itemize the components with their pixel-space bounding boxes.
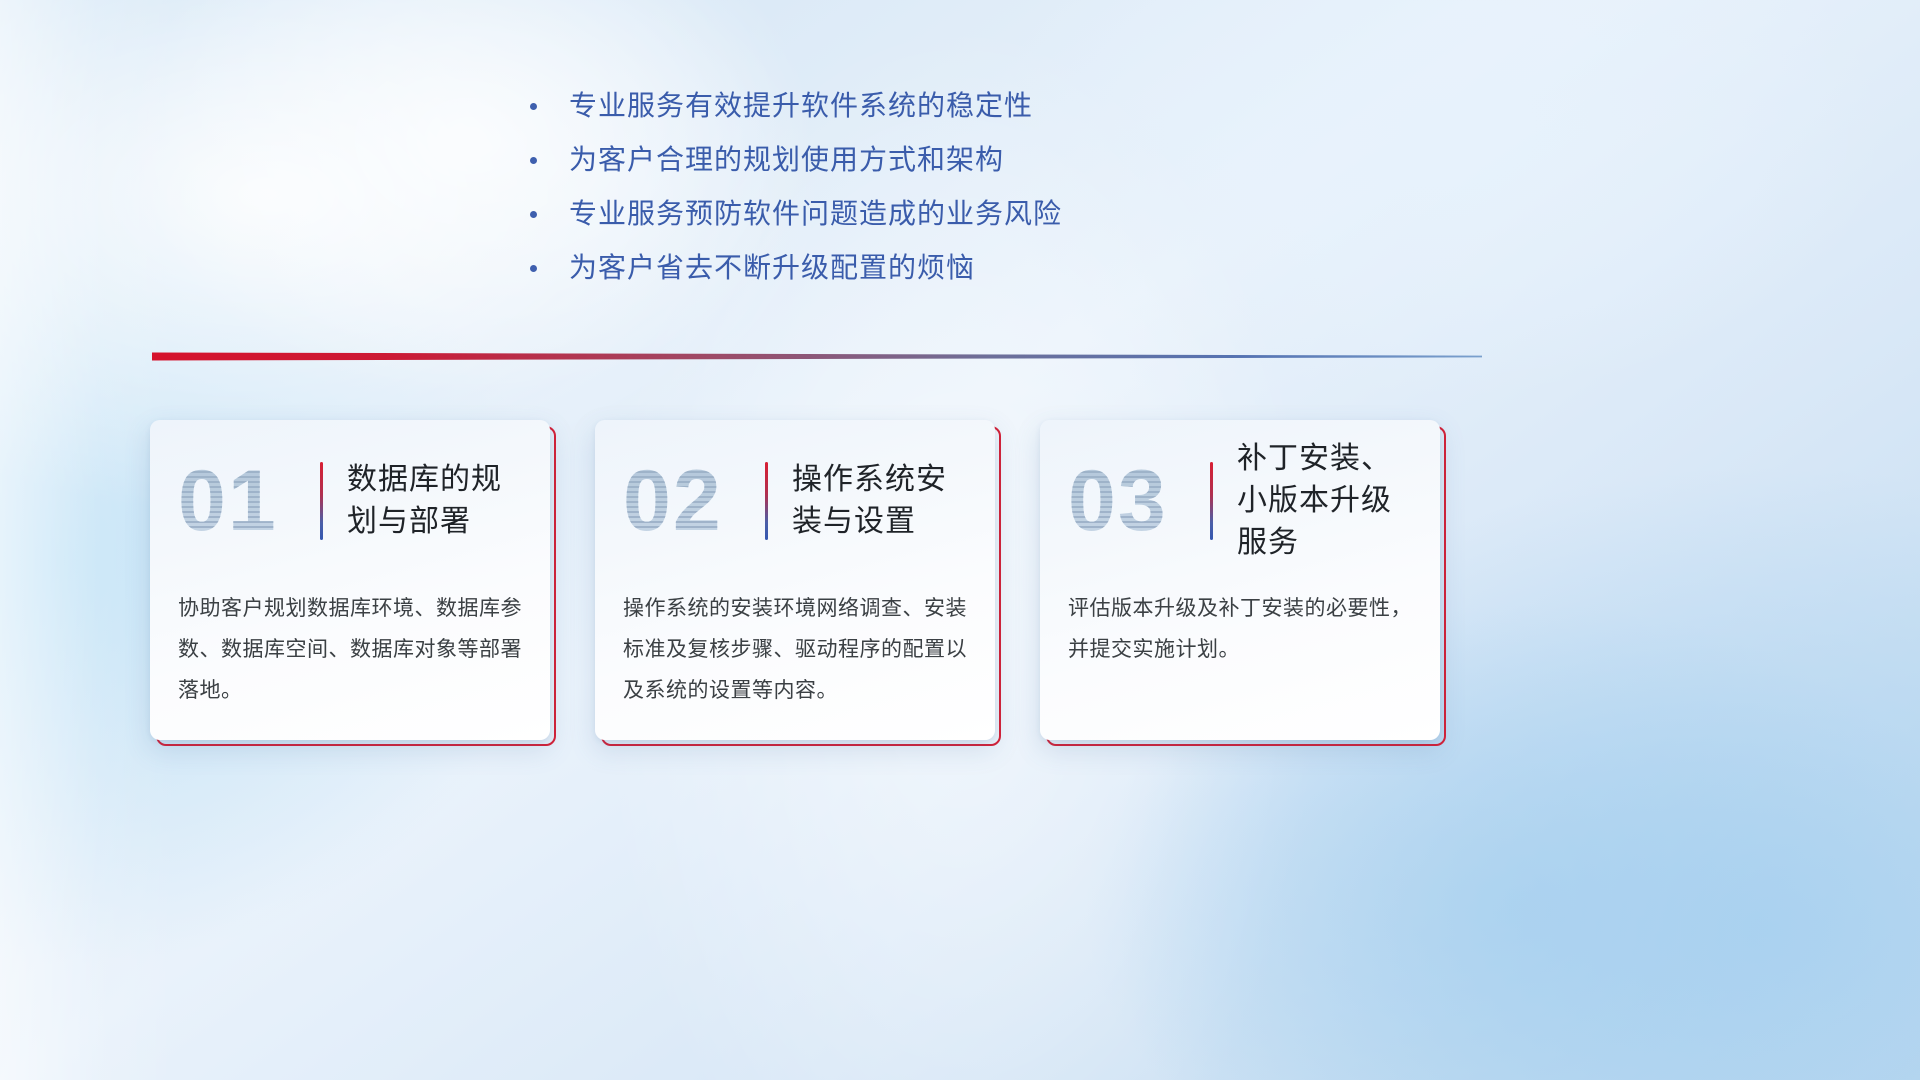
card-header: 01 数据库的规划与部署 [178,446,522,556]
card-divider-bar-icon [1210,462,1213,540]
card-number: 01 [178,446,318,556]
bullet-text: 为客户合理的规划使用方式和架构 [569,142,1004,178]
card-title: 操作系统安装与设置 [792,459,967,543]
card-header: 03 补丁安装、小版本升级服务 [1068,446,1412,556]
list-item: 专业服务预防软件问题造成的业务风险 [530,196,1150,232]
slide-canvas: 专业服务有效提升软件系统的稳定性 为客户合理的规划使用方式和架构 专业服务预防软… [0,0,1920,1080]
bullet-list: 专业服务有效提升软件系统的稳定性 为客户合理的规划使用方式和架构 专业服务预防软… [530,88,1150,304]
card-divider-bar-icon [320,462,323,540]
card-row: 01 数据库的规划与部署 协助客户规划数据库环境、数据库参数、数据库空间、数据库… [150,420,1770,750]
card-surface: 01 数据库的规划与部署 协助客户规划数据库环境、数据库参数、数据库空间、数据库… [150,420,550,740]
card-body-text: 评估版本升级及补丁安装的必要性，并提交实施计划。 [1068,588,1412,670]
bullet-dot-icon [530,157,537,164]
card-title: 补丁安装、小版本升级服务 [1237,438,1412,564]
card-surface: 03 补丁安装、小版本升级服务 评估版本升级及补丁安装的必要性，并提交实施计划。 [1040,420,1440,740]
card-divider-bar-icon [765,462,768,540]
bullet-text: 专业服务有效提升软件系统的稳定性 [569,88,1033,124]
list-item: 专业服务有效提升软件系统的稳定性 [530,88,1150,124]
feature-card[interactable]: 02 操作系统安装与设置 操作系统的安装环境网络调查、安装标准及复核步骤、驱动程… [595,420,995,740]
bullet-dot-icon [530,211,537,218]
bullet-text: 专业服务预防软件问题造成的业务风险 [569,196,1062,232]
bullet-dot-icon [530,265,537,272]
feature-card[interactable]: 01 数据库的规划与部署 协助客户规划数据库环境、数据库参数、数据库空间、数据库… [150,420,550,740]
card-body-text: 操作系统的安装环境网络调查、安装标准及复核步骤、驱动程序的配置以及系统的设置等内… [623,588,967,711]
card-number: 03 [1068,446,1208,556]
card-body-text: 协助客户规划数据库环境、数据库参数、数据库空间、数据库对象等部署落地。 [178,588,522,711]
list-item: 为客户合理的规划使用方式和架构 [530,142,1150,178]
card-header: 02 操作系统安装与设置 [623,446,967,556]
list-item: 为客户省去不断升级配置的烦恼 [530,250,1150,286]
section-divider [152,348,1482,364]
card-title: 数据库的规划与部署 [347,459,522,543]
feature-card[interactable]: 03 补丁安装、小版本升级服务 评估版本升级及补丁安装的必要性，并提交实施计划。 [1040,420,1440,740]
card-surface: 02 操作系统安装与设置 操作系统的安装环境网络调查、安装标准及复核步骤、驱动程… [595,420,995,740]
bullet-dot-icon [530,103,537,110]
card-number: 02 [623,446,763,556]
bullet-text: 为客户省去不断升级配置的烦恼 [569,250,975,286]
